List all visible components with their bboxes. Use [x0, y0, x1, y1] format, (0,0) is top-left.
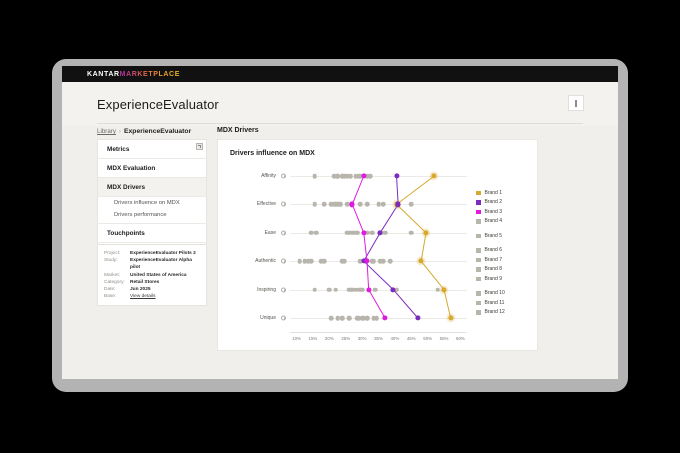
legend-swatch — [476, 301, 481, 306]
legend-swatch — [476, 219, 481, 224]
legend-item-brand-12[interactable]: Brand 12 — [476, 308, 505, 318]
detail-row: Project:ExperienceEvaluator Pilots 2 — [104, 250, 200, 257]
series-line-brand-1 — [397, 176, 451, 318]
detail-row: Category:Retail Stores — [104, 279, 200, 286]
page-header: ExperienceEvaluator — [62, 82, 618, 126]
legend-swatch — [476, 258, 481, 263]
app-topbar: KANTARMARKETPLACE — [62, 66, 618, 82]
sidebar-item-drivers-influence-on-mdx[interactable]: Drivers influence on MDX — [98, 197, 206, 209]
legend-label: Brand 7 — [485, 257, 503, 263]
legend-label: Brand 8 — [485, 266, 503, 272]
legend-item-brand-7[interactable]: Brand 7 — [476, 255, 505, 265]
series-line-brand-3 — [352, 176, 385, 318]
project-details-card: Project:ExperienceEvaluator Pilots 2Stud… — [97, 244, 207, 306]
detail-value: ExperienceEvaluator Pilots 2 — [130, 250, 196, 257]
legend-item-brand-5[interactable]: Brand 5 — [476, 231, 505, 241]
legend-item-brand-9[interactable]: Brand 9 — [476, 274, 505, 284]
detail-row: Base:View details — [104, 293, 200, 300]
section-heading: MDX Drivers — [217, 127, 259, 134]
detail-key: Base: — [104, 293, 127, 300]
legend-item-brand-3[interactable]: Brand 3 — [476, 207, 505, 217]
detail-key: Study: — [104, 257, 127, 271]
logo-marketplace-text: MARKETPLACE — [120, 71, 180, 78]
legend-swatch — [476, 191, 481, 196]
legend-swatch — [476, 291, 481, 296]
detail-value: Jun 2025 — [130, 286, 151, 293]
sidebar-item-touchpoints[interactable]: Touchpoints — [98, 224, 206, 243]
legend-label: Brand 5 — [485, 233, 503, 239]
detail-value: Retail Stores — [130, 279, 159, 286]
legend-swatch — [476, 248, 481, 253]
legend-label: Brand 12 — [485, 309, 505, 315]
legend-label: Brand 2 — [485, 199, 503, 205]
legend-swatch — [476, 310, 481, 315]
sidebar-subgroup: Drivers influence on MDXDrivers performa… — [98, 197, 206, 224]
sidebar-item-metrics[interactable]: Metrics — [98, 140, 206, 159]
detail-row: Date:Jun 2025 — [104, 286, 200, 293]
page-title: ExperienceEvaluator — [97, 97, 219, 112]
chart-legend: Brand 1Brand 2Brand 3Brand 4Brand 5Brand… — [476, 188, 505, 317]
legend-item-brand-11[interactable]: Brand 11 — [476, 298, 505, 308]
chart-panel: Drivers influence on MDX AffinityEffecti… — [217, 139, 538, 351]
logo-kantar-text: KANTAR — [87, 71, 120, 78]
legend-item-brand-2[interactable]: Brand 2 — [476, 198, 505, 208]
legend-label: Brand 11 — [485, 300, 505, 306]
detail-key: Market: — [104, 272, 127, 279]
sidebar-item-mdx-evaluation[interactable]: MDX Evaluation — [98, 159, 206, 178]
legend-label: Brand 10 — [485, 290, 505, 296]
legend-item-brand-10[interactable]: Brand 10 — [476, 289, 505, 299]
kantar-marketplace-logo: KANTARMARKETPLACE — [87, 71, 180, 78]
legend-swatch — [476, 200, 481, 205]
detail-key: Date: — [104, 286, 127, 293]
breadcrumb-link-library[interactable]: Library — [97, 128, 116, 135]
more-options-glyph — [575, 100, 577, 107]
legend-swatch — [476, 234, 481, 239]
legend-swatch — [476, 277, 481, 282]
detail-value: United States of America — [130, 272, 187, 279]
legend-label: Brand 6 — [485, 247, 503, 253]
header-divider — [97, 123, 583, 124]
legend-swatch — [476, 210, 481, 215]
legend-item-brand-6[interactable]: Brand 6 — [476, 246, 505, 256]
legend-swatch — [476, 267, 481, 272]
breadcrumb-current: ExperienceEvaluator — [124, 128, 191, 135]
legend-label: Brand 4 — [485, 218, 503, 224]
legend-label: Brand 9 — [485, 276, 503, 282]
detail-row: Study:ExperienceEvaluator Alpha pilot — [104, 257, 200, 271]
breadcrumb-separator: › — [119, 128, 121, 135]
sidebar-item-drivers-performance[interactable]: Drivers performance — [98, 209, 206, 221]
detail-key: Project: — [104, 250, 127, 257]
legend-item-brand-4[interactable]: Brand 4 — [476, 217, 505, 227]
sidebar-item-mdx-drivers[interactable]: MDX Drivers — [98, 178, 206, 197]
view-details-link[interactable]: View details — [130, 293, 156, 300]
detail-value: ExperienceEvaluator Alpha pilot — [130, 257, 200, 271]
legend-label: Brand 3 — [485, 209, 503, 215]
breadcrumb: Library › ExperienceEvaluator — [97, 128, 191, 135]
detail-key: Category: — [104, 279, 127, 286]
legend-item-brand-8[interactable]: Brand 8 — [476, 265, 505, 275]
legend-label: Brand 1 — [485, 190, 503, 196]
legend-item-brand-1[interactable]: Brand 1 — [476, 188, 505, 198]
more-options-icon[interactable] — [568, 95, 584, 111]
detail-row: Market:United States of America — [104, 272, 200, 279]
series-line-brand-2 — [364, 176, 418, 318]
app-screen: KANTARMARKETPLACE ExperienceEvaluator Li… — [62, 66, 618, 379]
